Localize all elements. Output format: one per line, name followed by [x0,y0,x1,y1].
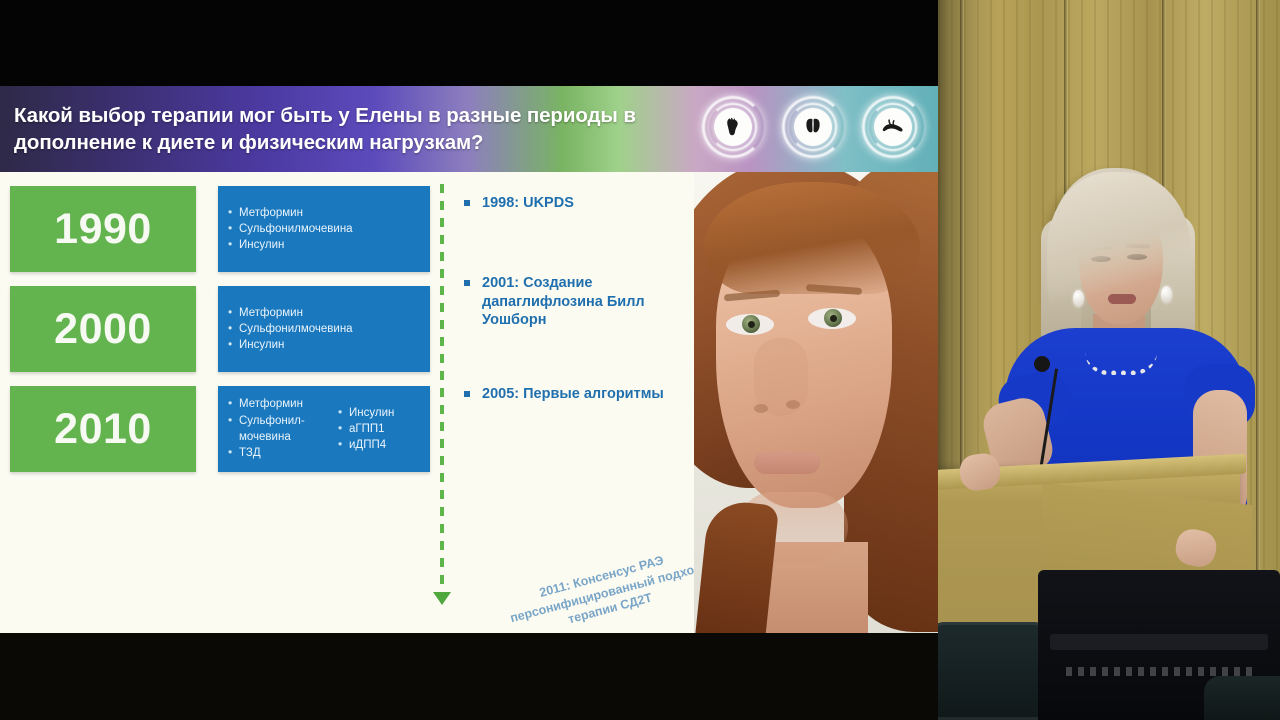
table-row: 2010 Метформин Сульфонил- мочевина ТЗД И… [10,386,430,472]
timeline-arrow-icon [433,592,451,605]
speaker-eye-right [1127,254,1147,260]
pancreas-icon [874,108,912,146]
year-box-2000: 2000 [10,286,196,372]
drug-list-2000: Метформин Сульфонилмочевина Инсулин [218,286,430,372]
chair-left [938,622,1048,720]
drug-list-1990: Метформин Сульфонилмочевина Инсулин [218,186,430,272]
screen-capture: Какой выбор терапии мог быть у Елены в р… [0,0,1280,720]
speaker-mouth [1108,294,1136,304]
drug-column: Метформин Сульфонилмочевина Инсулин [228,192,430,266]
list-item: Сульфонилмочевина [228,321,430,337]
list-item: Метформин [228,205,430,221]
list-item: 2005: Первые алгоритмы [462,385,692,403]
earring-right [1161,286,1172,303]
list-item: аГПП1 [338,421,430,437]
kidneys-icon-badge [782,96,844,158]
monitor-button-row [1066,667,1252,676]
table-row: 1990 Метформин Сульфонилмочевина Инсулин [10,186,430,272]
letterbox-bar-top [0,0,938,86]
earring-left [1073,290,1084,307]
year-label: 1990 [54,208,152,251]
patient-portrait-photo [694,172,938,633]
drug-column: Метформин Сульфонилмочевина Инсулин [228,292,430,366]
chair-right [1204,676,1280,720]
list-item: иДПП4 [338,437,430,453]
list-item: Сульфонил- мочевина [228,413,334,446]
year-label: 2000 [54,308,152,351]
portrait-lips [754,452,820,474]
list-item: Инсулин [338,405,430,421]
heart-icon-badge [702,96,764,158]
list-item: Метформин [228,305,430,321]
list-item: 1998: UKPDS [462,194,692,212]
slide-header-banner: Какой выбор терапии мог быть у Елены в р… [0,86,938,172]
monitor-bezel [1050,634,1268,650]
list-item: Инсулин [228,237,430,253]
letterbox-bar-bottom [0,633,938,720]
microphone-head [1034,356,1050,372]
portrait-pupil-right [830,315,837,322]
therapy-timeline-rows: 1990 Метформин Сульфонилмочевина Инсулин… [10,186,430,486]
list-item: Инсулин [228,337,430,353]
drug-column: Метформин Сульфонил- мочевина ТЗД [228,392,334,466]
speaker-face [1079,206,1163,324]
slide-title: Какой выбор терапии мог быть у Елены в р… [14,102,654,157]
heart-icon [714,108,752,146]
portrait-fringe [704,182,920,294]
list-item: Сульфонилмочевина [228,221,430,237]
rotated-annotation: 2011: Консенсус РАЭ персонифицированный … [498,542,714,633]
organ-icon-group [702,96,924,158]
pancreas-icon-badge [862,96,924,158]
timeline-dashed-axis [440,184,444,596]
timeline-events: 1998: UKPDS 2001: Создание дапаглифлозин… [462,194,692,403]
year-box-1990: 1990 [10,186,196,272]
list-item: Метформин [228,396,334,412]
portrait-nostril-right [786,400,800,409]
drug-list-2010: Метформин Сульфонил- мочевина ТЗД Инсули… [218,386,430,472]
drug-column: Инсулин аГПП1 иДПП4 [338,392,430,466]
year-label: 2010 [54,408,152,451]
portrait-nostril-left [754,404,768,413]
year-box-2010: 2010 [10,386,196,472]
list-item: ТЗД [228,445,334,461]
list-item: 2001: Создание дапаглифлозина Билл Уошбо… [462,274,692,329]
table-row: 2000 Метформин Сульфонилмочевина Инсулин [10,286,430,372]
speaker-video-feed [938,0,1280,720]
slide-body: 1990 Метформин Сульфонилмочевина Инсулин… [0,172,938,633]
presentation-slide: Какой выбор терапии мог быть у Елены в р… [0,86,938,633]
portrait-pupil-left [748,321,755,328]
kidneys-icon [794,108,832,146]
speaker-eye-left [1091,256,1111,262]
